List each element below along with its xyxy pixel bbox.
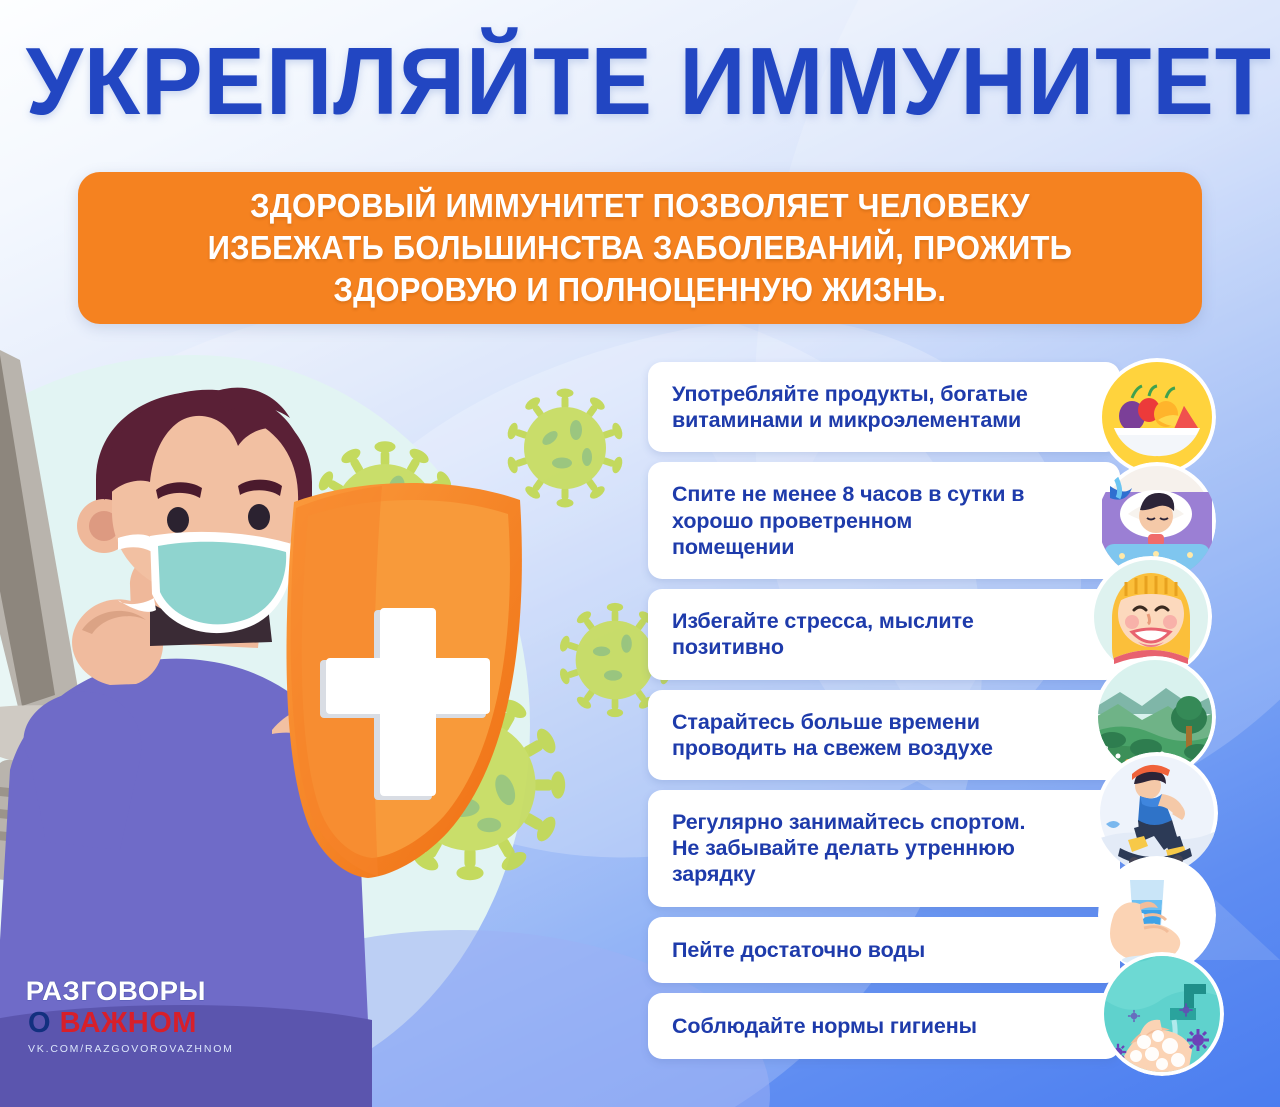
banner-line-1: ЗДОРОВЫЙ ИММУНИТЕТ ПОЗВОЛЯЕТ ЧЕЛОВЕКУ: [208, 185, 1073, 227]
handwashing-icon: [1100, 952, 1224, 1076]
tip-text: Спите не менее 8 часов в сутки в хорошо …: [672, 481, 1028, 560]
logo-line-2-part-2: ВАЖНОМ: [60, 1007, 197, 1039]
subtitle-banner-text: ЗДОРОВЫЙ ИММУНИТЕТ ПОЗВОЛЯЕТ ЧЕЛОВЕКУ ИЗ…: [187, 185, 1093, 312]
tip-text: Пейте достаточно воды: [672, 937, 925, 963]
tip-card[interactable]: Спите не менее 8 часов в сутки в хорошо …: [648, 462, 1120, 579]
brand-logo: РАЗГОВОРЫ О ВАЖНОМ vk.com/razgovorovazhn…: [28, 978, 258, 1055]
subtitle-banner: ЗДОРОВЫЙ ИММУНИТЕТ ПОЗВОЛЯЕТ ЧЕЛОВЕКУ ИЗ…: [78, 172, 1202, 324]
tip-card[interactable]: Регулярно занимайтесь спортом. Не забыва…: [648, 790, 1120, 907]
tip-card[interactable]: Старайтесь больше времени проводить на с…: [648, 690, 1120, 780]
tip-text: Старайтесь больше времени проводить на с…: [672, 709, 1028, 761]
tip-text: Избегайте стресса, мыслите позитивно: [672, 608, 1028, 660]
logo-line-1-text: РАЗГОВОРЫ: [26, 976, 206, 1006]
tip-text: Регулярно занимайтесь спортом. Не забыва…: [672, 809, 1028, 888]
tip-card[interactable]: Соблюдайте нормы гигиены: [648, 993, 1120, 1059]
logo-line-1: РАЗГОВОРЫ: [26, 978, 261, 1005]
tip-text: Употребляйте продукты, богатые витаминам…: [672, 381, 1028, 433]
poster-canvas: УКРЕПЛЯЙТЕ ИММУНИТЕТ ЗДОРОВЫЙ ИММУНИТЕТ …: [0, 0, 1280, 1107]
tip-card[interactable]: Избегайте стресса, мыслите позитивно: [648, 589, 1120, 679]
fruit-bowl-icon: [1098, 358, 1216, 476]
logo-line-2-part-1: О: [28, 1007, 51, 1039]
banner-line-2: ИЗБЕЖАТЬ БОЛЬШИНСТВА ЗАБОЛЕВАНИЙ, ПРОЖИТ…: [208, 227, 1073, 269]
banner-line-3: ЗДОРОВУЮ И ПОЛНОЦЕННУЮ ЖИЗНЬ.: [208, 269, 1073, 311]
tip-card[interactable]: Употребляйте продукты, богатые витаминам…: [648, 362, 1120, 452]
page-title: УКРЕПЛЯЙТЕ ИММУНИТЕТ: [26, 34, 1255, 130]
tips-list: Употребляйте продукты, богатые витаминам…: [648, 362, 1120, 1059]
logo-line-2: О ВАЖНОМ: [28, 1009, 258, 1038]
tip-text: Соблюдайте нормы гигиены: [672, 1013, 977, 1039]
tip-card[interactable]: Пейте достаточно воды: [648, 917, 1120, 983]
logo-url[interactable]: vk.com/razgovorovazhnom: [28, 1043, 258, 1055]
